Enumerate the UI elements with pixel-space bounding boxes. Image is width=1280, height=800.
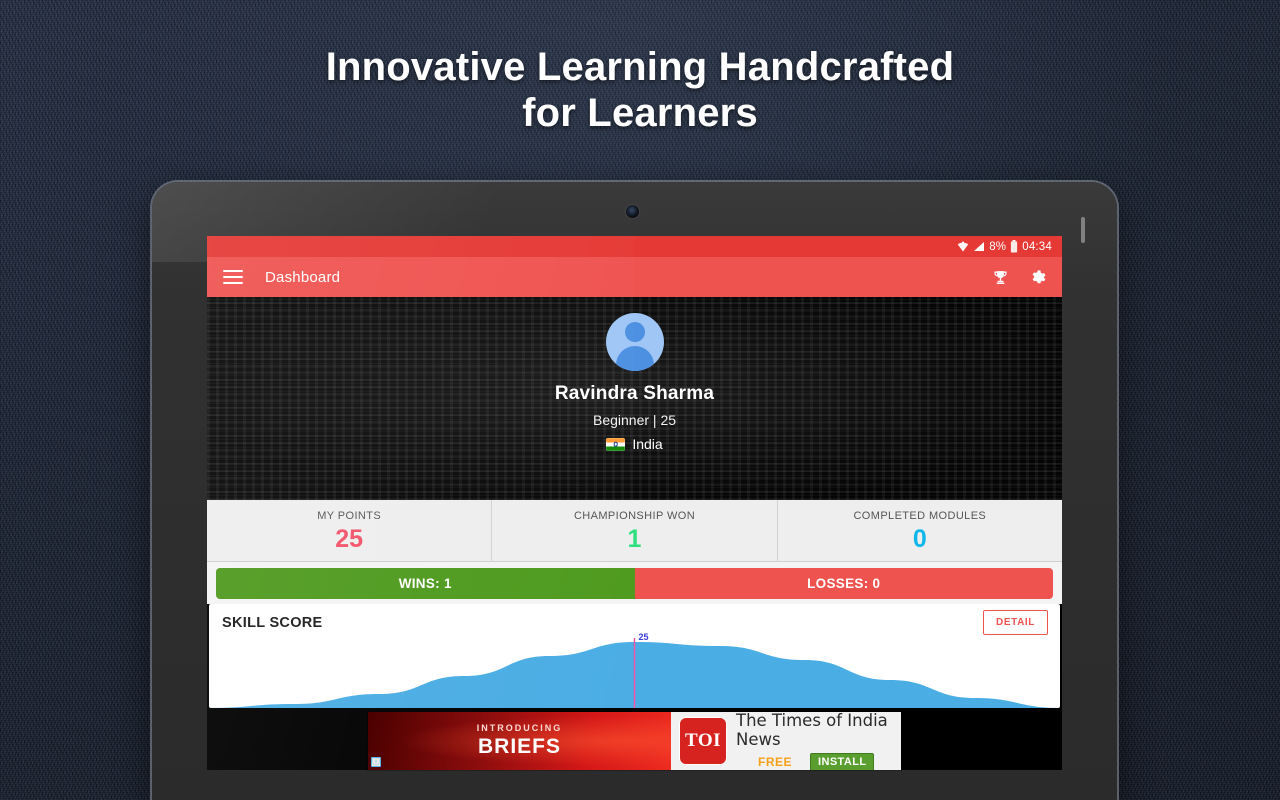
hamburger-menu-icon[interactable] [223, 270, 243, 284]
app-bar-actions [992, 269, 1050, 286]
win-loss-bar: WINS: 1 LOSSES: 0 [216, 568, 1053, 599]
gear-icon[interactable] [1029, 269, 1046, 286]
ad-info-icon[interactable]: ⓘ [371, 757, 381, 767]
promo-headline-line2: for Learners [0, 90, 1280, 136]
ad-introducing-label: INTRODUCING [477, 723, 563, 733]
ad-banner[interactable]: INTRODUCING BRIEFS ⓘ TOI The Times of In… [368, 712, 901, 770]
battery-percent-label: 8% [989, 241, 1006, 253]
user-avatar-icon [606, 313, 664, 371]
skill-score-chart [209, 638, 1060, 708]
stat-label: CHAMPIONSHIP WON [574, 510, 695, 522]
profile-rank: Beginner | 25 [593, 412, 676, 428]
trophy-icon[interactable] [992, 269, 1009, 286]
stat-value: 0 [913, 527, 927, 552]
wins-segment[interactable]: WINS: 1 [216, 568, 635, 599]
stat-championship-won[interactable]: CHAMPIONSHIP WON 1 [492, 500, 777, 561]
signal-icon [973, 241, 985, 252]
device-screen: 8% 04:34 Dashboard [207, 236, 1062, 770]
skill-score-title: SKILL SCORE [222, 615, 323, 631]
ad-install-button[interactable]: INSTALL [810, 753, 874, 770]
india-flag-icon [606, 438, 625, 451]
promo-headline-line1: Innovative Learning Handcrafted [326, 45, 955, 89]
skill-score-card: SKILL SCORE DETAIL 25 [209, 604, 1060, 708]
promo-headline: Innovative Learning Handcrafted for Lear… [0, 44, 1280, 136]
win-loss-bar-container: WINS: 1 LOSSES: 0 [207, 562, 1062, 604]
losses-segment[interactable]: LOSSES: 0 [635, 568, 1054, 599]
stats-row: MY POINTS 25 CHAMPIONSHIP WON 1 COMPLETE… [207, 500, 1062, 562]
ad-brand-label: BRIEFS [478, 735, 561, 759]
profile-name: Ravindra Sharma [555, 383, 714, 405]
wifi-icon [957, 241, 969, 252]
status-bar-clock: 04:34 [1022, 241, 1052, 253]
ad-detail-panel[interactable]: TOI The Times of India News FREE INSTALL [671, 712, 901, 770]
stat-label: COMPLETED MODULES [853, 510, 986, 522]
status-bar: 8% 04:34 [207, 236, 1062, 257]
page-title: Dashboard [265, 269, 340, 286]
stat-label: MY POINTS [317, 510, 381, 522]
profile-country: India [606, 436, 662, 452]
app-bar: Dashboard [207, 257, 1062, 297]
detail-button[interactable]: DETAIL [983, 610, 1048, 635]
ad-text-block: The Times of India News FREE INSTALL [736, 712, 901, 770]
chart-marker-label: 25 [639, 632, 649, 642]
profile-country-label: India [632, 436, 662, 452]
tablet-device-frame: 8% 04:34 Dashboard [152, 182, 1117, 800]
stat-value: 1 [628, 527, 642, 552]
ad-headline: The Times of India News [736, 712, 901, 749]
stat-value: 25 [335, 527, 363, 552]
toi-logo: TOI [679, 717, 727, 765]
stat-my-points[interactable]: MY POINTS 25 [207, 500, 492, 561]
power-button[interactable] [1081, 217, 1085, 243]
ad-subline: FREE INSTALL [736, 753, 901, 770]
profile-hero: Ravindra Sharma Beginner | 25 India [207, 297, 1062, 500]
ad-price-label: FREE [758, 755, 792, 769]
front-camera-icon [626, 205, 639, 218]
stat-completed-modules[interactable]: COMPLETED MODULES 0 [778, 500, 1062, 561]
ad-creative-panel[interactable]: INTRODUCING BRIEFS ⓘ [368, 712, 671, 770]
battery-icon [1010, 240, 1018, 253]
